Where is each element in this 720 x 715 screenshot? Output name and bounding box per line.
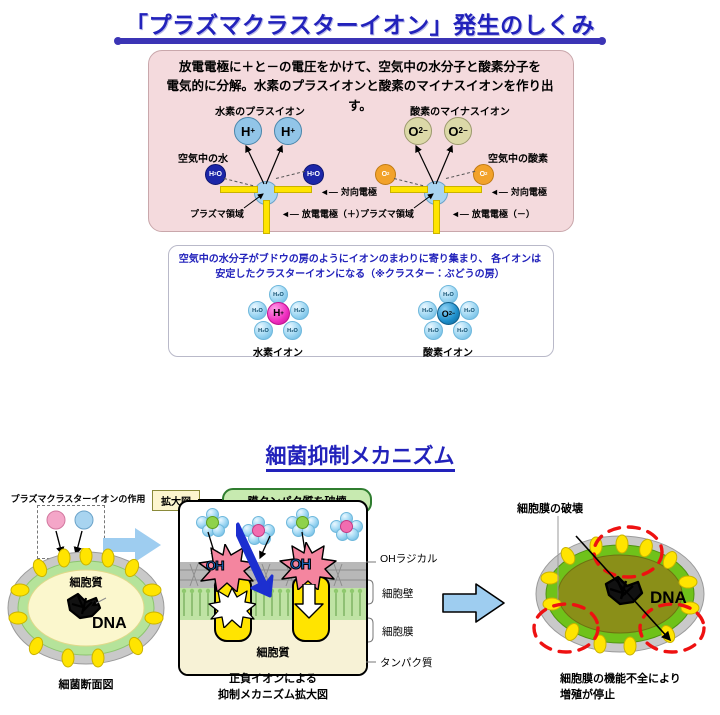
plasma-region-label-right: プラズマ領域 — [360, 207, 414, 220]
hydrogen-heading: 水素のプラスイオン — [180, 103, 340, 118]
cluster-o-h2o-lower-left: H₂O — [424, 321, 443, 340]
discharge-electrode-label-right: ◄—放電電極（－） — [451, 207, 535, 220]
right-caption-line-1: 細胞膜の機能不全により — [560, 672, 720, 688]
air-water-label: 空気中の水 — [158, 150, 248, 165]
protein-push-arrow — [294, 584, 324, 620]
discharge-electrode-label-left: ◄—放電電極（＋） — [281, 207, 365, 220]
protein-destruction-burst — [208, 588, 256, 628]
center-caption-line-2: 抑制メカニズム拡大図 — [188, 688, 358, 704]
enlarged-mechanism-panel: OH OH 細胞質 — [178, 500, 368, 676]
h2o-molecule-left-2: H2O — [303, 164, 324, 185]
label-protein: タンパク質 — [380, 655, 433, 670]
cluster-o-h2o-lower-right: H₂O — [453, 321, 472, 340]
bacteria-cross-section-alive — [6, 548, 166, 668]
hydrogen-emission-arrows — [238, 140, 294, 186]
right-panel-caption: 細胞膜の機能不全により 増殖が停止 — [560, 672, 720, 704]
dna-label-right: DNA — [650, 588, 687, 608]
oh-radical-text-right: OH — [290, 556, 311, 573]
counter-electrode-label-right: ◄—対向電極 — [490, 185, 547, 198]
title-rule — [118, 38, 602, 44]
right-caption-line-2: 増殖が停止 — [560, 688, 720, 704]
left-panel-caption: 細菌断面図 — [6, 678, 166, 694]
plasma-region-label-left: プラズマ領域 — [190, 207, 244, 220]
oxygen-emission-arrows — [408, 140, 464, 186]
counter-electrode-bar-left-b — [274, 186, 312, 193]
center-caption-line-1: 正負イオンによる — [188, 672, 358, 688]
counter-electrode-label-left: ◄—対向電極 — [320, 185, 377, 198]
cluster-o-h2o-upper-right: H₂O — [460, 301, 479, 320]
dna-label-left: DNA — [92, 615, 127, 633]
section1-title: 「プラズマクラスターイオン」発生のしくみ — [0, 6, 720, 40]
cluster-h2o-lower-left: H₂O — [254, 321, 273, 340]
oxygen-cluster-ion: H₂O H₂O H₂O H₂O H₂O O2− — [415, 285, 481, 341]
label-cell-membrane: 細胞膜 — [382, 624, 414, 639]
plasma-pointer-left — [243, 192, 265, 210]
cluster-h2o-lower-right: H₂O — [283, 321, 302, 340]
cluster-h2o-upper-left: H₂O — [248, 301, 267, 320]
cluster-h2o-upper-right: H₂O — [290, 301, 309, 320]
counter-electrode-bar-right-b — [444, 186, 482, 193]
o2-molecule-right-2: O2 — [473, 164, 494, 185]
center-panel-caption: 正負イオンによる 抑制メカニズム拡大図 — [188, 672, 358, 704]
cluster-line-2: 安定したクラスターイオンになる（※クラスター：ぶどうの房） — [172, 267, 548, 282]
h2o-molecule-left-1: H2O — [205, 164, 226, 185]
cluster-explanation-text: 空気中の水分子がブドウの房のようにイオンのまわりに寄り集まり、 各イオンは 安定… — [172, 252, 548, 282]
arrow-center-to-right — [442, 582, 506, 624]
o2-molecule-right-1: O2 — [375, 164, 396, 185]
plasma-pointer-right — [413, 192, 435, 210]
label-oh-radical: OHラジカル — [380, 551, 438, 566]
section2-title-text: 細菌抑制メカニズム — [266, 445, 455, 472]
cytoplasm-label-left: 細胞質 — [36, 574, 136, 590]
label-cell-wall: 細胞壁 — [382, 586, 414, 601]
cluster-line-1: 空気中の水分子がブドウの房のようにイオンのまわりに寄り集まり、 各イオンは — [172, 252, 548, 267]
cluster-o-h2o-upper-left: H₂O — [418, 301, 437, 320]
label-leader-lines — [366, 556, 380, 668]
air-oxygen-label: 空気中の酸素 — [468, 150, 568, 165]
hydrogen-ion-caption: 水素イオン — [238, 344, 318, 359]
section2-title: 細菌抑制メカニズム — [0, 440, 720, 470]
cluster-core-hydrogen: H+ — [267, 302, 290, 325]
oxygen-heading: 酸素のマイナスイオン — [380, 103, 540, 118]
oxygen-ion-caption: 酸素イオン — [408, 344, 488, 359]
cytoplasm-label-center: 細胞質 — [180, 644, 366, 660]
hydrogen-cluster-ion: H₂O H₂O H₂O H₂O H₂O H+ — [245, 285, 311, 341]
intro-line-1: 放電電極に＋と－の電圧をかけて、空気中の水分子と酸素分子を — [155, 58, 565, 77]
oh-radical-text-left: OH — [206, 558, 224, 573]
ion-action-label: プラズマクラスターイオンの作用 — [8, 492, 148, 505]
cluster-core-oxygen: O2− — [437, 302, 460, 325]
